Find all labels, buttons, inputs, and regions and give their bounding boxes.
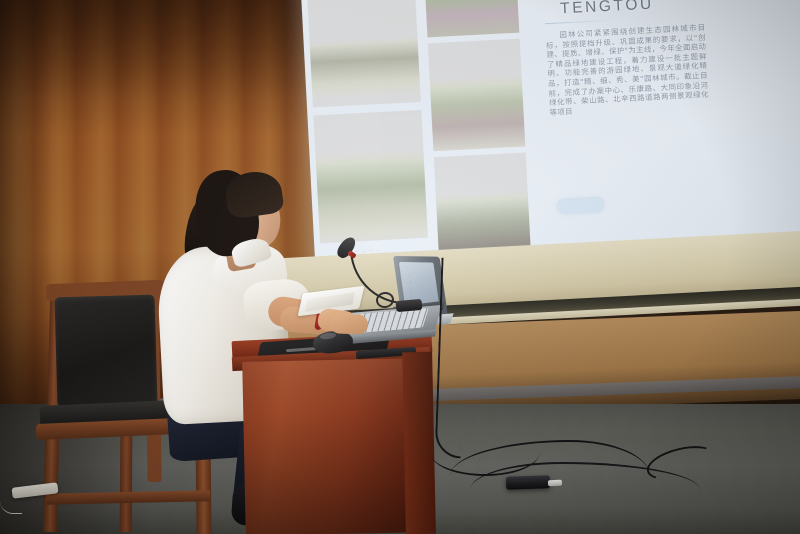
slide-title-rule — [545, 20, 615, 25]
power-adapter-brick — [506, 475, 550, 490]
podium-shading — [242, 358, 422, 534]
slide-photo-left-top — [307, 0, 421, 108]
presentation-scene: TENGTOU 园林公司紧紧围绕创建生态园林城市目标，按照提档升级、巩固成果的要… — [0, 0, 800, 534]
slide-photo-left-bottom — [313, 110, 428, 243]
slide-badge — [556, 196, 605, 214]
power-adapter-plug — [548, 480, 562, 487]
slide-title: TENGTOU — [560, 0, 655, 18]
slide-photo-right-middle — [428, 39, 526, 152]
slide-photo-right-top — [424, 0, 520, 37]
podium-side-panel — [402, 352, 436, 534]
presenter-hand-right — [330, 313, 369, 334]
slide-body-text: 园林公司紧紧围绕创建生态园林城市目标，按照提档升级、巩固成果的要求，以"创建、提… — [545, 23, 709, 118]
chair-leg-middle — [120, 436, 133, 532]
microphone-base[interactable] — [396, 299, 423, 312]
chair-back-pad — [54, 295, 157, 408]
